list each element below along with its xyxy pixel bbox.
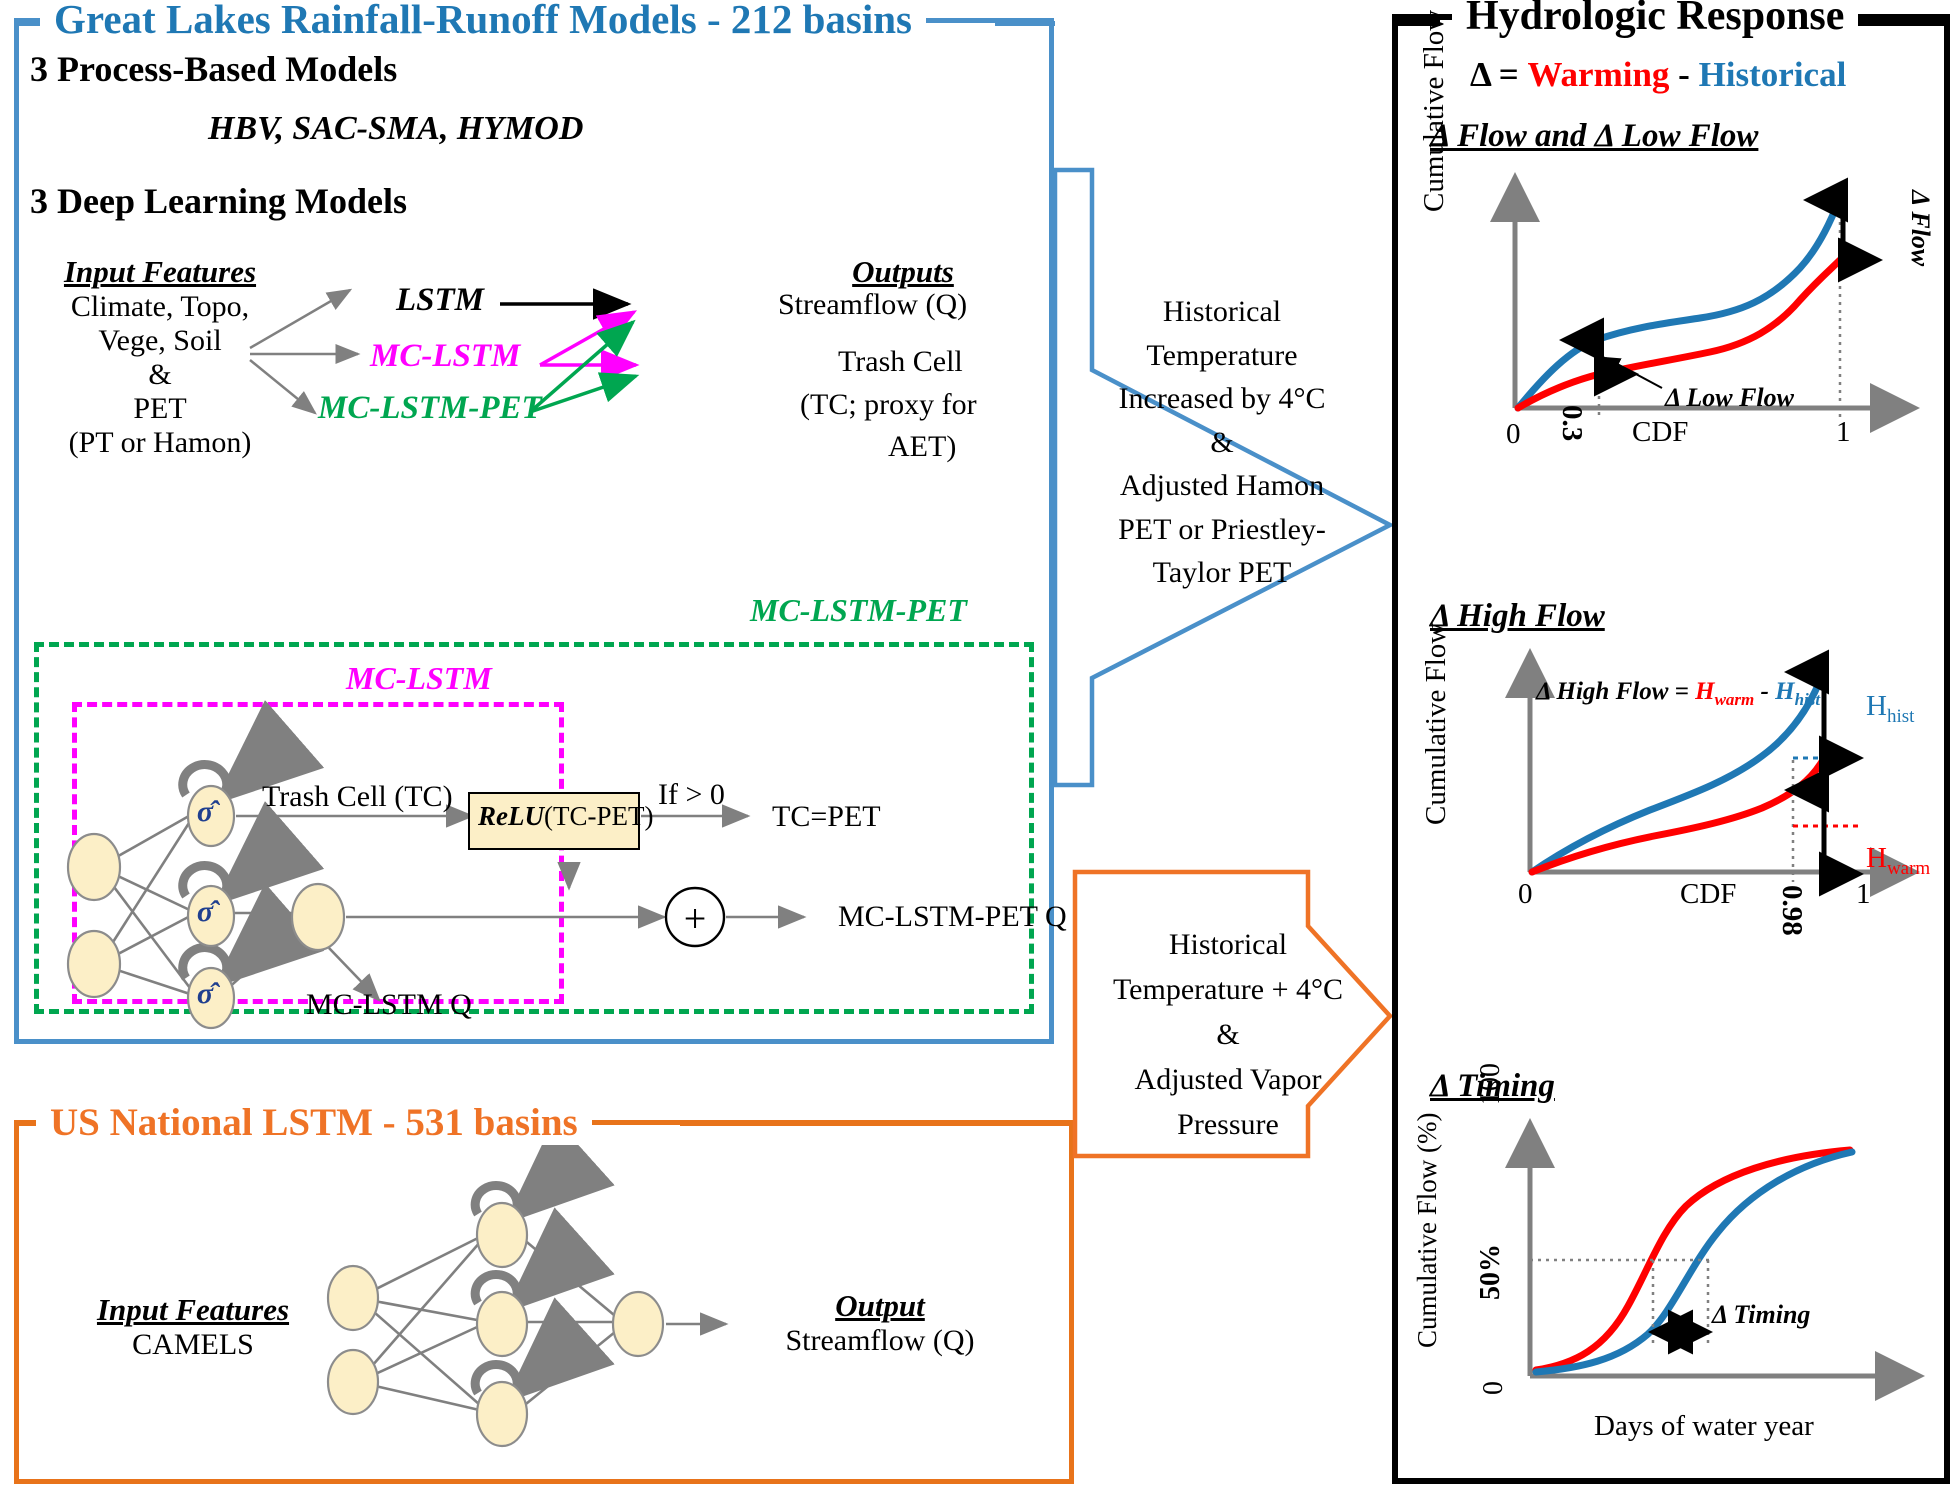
process-based-models-list: HBV, SAC-SMA, HYMOD bbox=[208, 110, 583, 148]
mc-lstm-q-label: MC-LSTM Q bbox=[306, 988, 472, 1022]
scenario-line: Temperature bbox=[1072, 334, 1372, 378]
output-trash-cell: Trash Cell bbox=[838, 345, 963, 379]
delta-equation: Δ = Warming - Historical bbox=[1470, 55, 1846, 95]
mc-lstm-pet-box-label: MC-LSTM-PET bbox=[750, 592, 967, 629]
chart-2-h-warm-sub: warm bbox=[1715, 690, 1755, 709]
relu-args: (TC-PET) bbox=[544, 801, 653, 831]
chart-2-h-hist-sub: hist bbox=[1795, 690, 1821, 709]
input-features-line: (PT or Hamon) bbox=[50, 426, 270, 460]
mc-lstm-pet-q-label: MC-LSTM-PET Q bbox=[838, 900, 1067, 934]
scenario-line: Adjusted Vapor bbox=[1078, 1057, 1378, 1102]
if-greater-than-zero-label: If > 0 bbox=[658, 778, 725, 812]
chart-3-xlabel: Days of water year bbox=[1594, 1410, 1814, 1443]
chart-2-title: Δ High Flow bbox=[1430, 598, 1605, 635]
us-national-scenario-text: Historical Temperature + 4°C & Adjusted … bbox=[1078, 922, 1378, 1147]
input-features-line: Vege, Soil bbox=[50, 324, 270, 358]
process-based-heading: 3 Process-Based Models bbox=[30, 48, 397, 90]
input-features-line: & bbox=[50, 358, 270, 392]
scenario-line: & bbox=[1072, 421, 1372, 465]
trash-cell-label: Trash Cell (TC) bbox=[262, 780, 453, 814]
output-trash-cell-proxy: (TC; proxy for bbox=[800, 388, 977, 422]
us-output-value: Streamflow (Q) bbox=[740, 1324, 1020, 1358]
input-features-line: Climate, Topo, bbox=[50, 290, 270, 324]
chart-2-h-warm: H bbox=[1695, 678, 1714, 705]
great-lakes-scenario-text: Historical Temperature Increased by 4°C … bbox=[1072, 290, 1372, 595]
chart-2-xtick-1: 1 bbox=[1856, 878, 1871, 911]
us-output-block: Output Streamflow (Q) bbox=[740, 1288, 1020, 1358]
relu-label: ReLU bbox=[478, 801, 544, 831]
us-input-features-block: Input Features CAMELS bbox=[58, 1292, 328, 1362]
chart-2-xlabel: CDF bbox=[1680, 878, 1736, 911]
outputs-label: Outputs bbox=[778, 254, 1028, 290]
chart-1-delta-low-flow-annotation: Δ Low Flow bbox=[1665, 383, 1794, 413]
chart-2-label-h-hist-sub: hist bbox=[1887, 706, 1914, 727]
model-to-output-arrows bbox=[500, 280, 680, 440]
chart-1-delta-flow-annotation: Δ Flow bbox=[1905, 190, 1935, 266]
us-input-features-value: CAMELS bbox=[58, 1328, 328, 1362]
panel-title-rule-right bbox=[995, 21, 1055, 26]
hydrologic-response-title: Hydrologic Response bbox=[1452, 0, 1858, 40]
mc-lstm-network bbox=[34, 700, 1034, 1020]
chart-1-ylabel: Cumulative Flow bbox=[1418, 10, 1451, 212]
delta-eq-warming: Warming bbox=[1527, 55, 1669, 94]
chart-1-xlabel: CDF bbox=[1632, 416, 1688, 449]
delta-eq-minus: - bbox=[1669, 55, 1698, 94]
input-features-line: PET bbox=[50, 392, 270, 426]
scenario-line: Temperature + 4°C bbox=[1078, 967, 1378, 1012]
delta-eq-historical: Historical bbox=[1699, 55, 1847, 94]
chart-2-label-h-hist-base: H bbox=[1866, 690, 1887, 722]
chart-2-xtick-0-98: 0.98 bbox=[1775, 885, 1808, 936]
chart-1-xtick-0: 0 bbox=[1506, 418, 1521, 451]
chart-2-equation: Δ High Flow = Hwarm - Hhist bbox=[1536, 678, 1820, 710]
hr-title-rule-left bbox=[1394, 20, 1440, 26]
scenario-line: Increased by 4°C bbox=[1072, 377, 1372, 421]
scenario-line: Taylor PET bbox=[1072, 551, 1372, 595]
scenario-line: Adjusted Hamon bbox=[1072, 464, 1372, 508]
chart-3-ytick-0: 0 bbox=[1478, 1381, 1510, 1395]
plus-symbol: + bbox=[665, 895, 725, 942]
chart-2-label-h-warm-sub: warm bbox=[1887, 858, 1930, 879]
gate-sigma-glyph: σ̂ bbox=[183, 895, 227, 929]
gate-sigma-glyph: σ̂ bbox=[183, 977, 227, 1011]
chart-2-xtick-0: 0 bbox=[1518, 878, 1533, 911]
us-panel-title-rule-right bbox=[680, 1121, 1072, 1126]
us-input-features-label: Input Features bbox=[58, 1292, 328, 1328]
input-features-block: Input Features Climate, Topo, Vege, Soil… bbox=[50, 254, 270, 460]
deep-learning-heading: 3 Deep Learning Models bbox=[30, 180, 407, 222]
input-features-label: Input Features bbox=[50, 254, 270, 290]
chart-3-ytick-100: 100 bbox=[1475, 1063, 1507, 1105]
input-to-model-arrows bbox=[240, 270, 430, 430]
gate-sigma-glyph: σ̂ bbox=[183, 795, 227, 829]
scenario-line: Pressure bbox=[1078, 1102, 1378, 1147]
chart-2-h-hist: H bbox=[1775, 678, 1794, 705]
chart-3-ylabel: Cumulative Flow (%) bbox=[1412, 1113, 1443, 1348]
chart-3-delta-timing-annotation: Δ Timing bbox=[1712, 1300, 1810, 1330]
chart-2-ylabel: Cumulative Flow bbox=[1420, 623, 1453, 825]
delta-eq-lhs: Δ = bbox=[1470, 55, 1527, 94]
scenario-line: Historical bbox=[1072, 290, 1372, 334]
great-lakes-panel-title: Great Lakes Rainfall-Runoff Models - 212… bbox=[40, 0, 926, 43]
chart-2-equation-lhs: Δ High Flow = bbox=[1536, 678, 1695, 705]
chart-2-label-h-warm-base: H bbox=[1866, 842, 1887, 874]
output-streamflow: Streamflow (Q) bbox=[778, 288, 967, 322]
us-lstm-network bbox=[320, 1170, 750, 1470]
chart-2-label-h-hist: Hhist bbox=[1866, 690, 1914, 728]
scenario-line: & bbox=[1078, 1012, 1378, 1057]
us-national-panel-title: US National LSTM - 531 basins bbox=[36, 1100, 592, 1145]
mc-lstm-box-label: MC-LSTM bbox=[346, 660, 492, 697]
scenario-line: Historical bbox=[1078, 922, 1378, 967]
chart-1-xtick-0-3: 0.3 bbox=[1555, 405, 1588, 441]
chart-2-equation-minus: - bbox=[1754, 678, 1775, 705]
relu-box-text: ReLU(TC-PET) bbox=[478, 801, 653, 832]
us-output-label: Output bbox=[740, 1288, 1020, 1324]
chart-2-label-h-warm: Hwarm bbox=[1866, 842, 1930, 880]
chart-3-ytick-50: 50% bbox=[1475, 1244, 1507, 1300]
outputs-block: Outputs bbox=[778, 254, 1028, 290]
tc-equals-pet-label: TC=PET bbox=[772, 800, 881, 834]
output-aet: AET) bbox=[888, 430, 956, 464]
scenario-line: PET or Priestley- bbox=[1072, 508, 1372, 552]
chart-1-title: Δ Flow and Δ Low Flow bbox=[1430, 118, 1758, 155]
chart-1-xtick-1: 1 bbox=[1836, 416, 1851, 449]
